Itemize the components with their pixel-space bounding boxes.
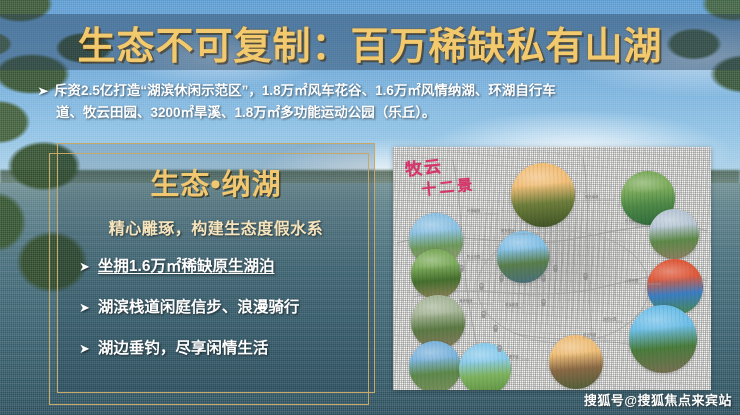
scenic-map-panel: 牧云 十二景 风车花谷WINDMILL FLOWER VALLEY风情纳湖NAH…	[393, 147, 711, 390]
map-label: 旱溪景观DRY CREEK	[505, 303, 522, 312]
photo-texture	[409, 341, 461, 390]
panel-subtitle: 精心雕琢，构建生态度假水系	[73, 215, 359, 239]
map-pin-icon	[541, 299, 546, 306]
map-label-en: LAKESIDE BOARDWALK	[459, 303, 493, 307]
map-label-en: FISHING AREA	[509, 359, 530, 363]
map-pin-icon	[479, 283, 484, 290]
photo-lawn-sky	[459, 343, 511, 390]
photo-riverbank	[409, 341, 461, 390]
map-pin-icon	[493, 325, 498, 332]
panel-bullet-list: ➤ 坐拥1.6万㎡稀缺原生湖泊 ➤ 湖滨栈道闲庭信步、浪漫骑行 ➤ 湖边垂钓，尽…	[73, 257, 359, 359]
map-pin-icon	[541, 275, 546, 282]
photo-texture	[511, 163, 575, 227]
subtitle-line-1: 斥资2.5亿打造“湖滨休闲示范区”，1.8万㎡风车花谷、1.6万㎡风情纳湖、环湖…	[54, 83, 556, 98]
presentation-slide: 生态不可复制：百万稀缺私有山湖 ➤斥资2.5亿打造“湖滨休闲示范区”，1.8万㎡…	[0, 0, 740, 415]
arrow-bullet-icon: ➤	[79, 339, 90, 359]
list-item: ➤ 湖滨栈道闲庭信步、浪漫骑行	[79, 298, 359, 318]
map-pin-icon	[583, 273, 588, 280]
map-label-en: DRY CREEK	[505, 307, 522, 311]
map-label: 风车花谷WINDMILL FLOWER VALLEY	[501, 229, 540, 238]
map-label: 牧云田园MUYUN FARMLAND	[467, 255, 494, 264]
arrow-bullet-icon: ➤	[79, 257, 90, 277]
subtitle-paragraph: ➤斥资2.5亿打造“湖滨休闲示范区”，1.8万㎡风车花谷、1.6万㎡风情纳湖、环…	[38, 80, 706, 124]
map-label-en: CHILDREN PLAYGROUND	[625, 283, 661, 287]
map-label: 湖滨栈道LAKESIDE BOARDWALK	[459, 299, 493, 308]
map-label: 环湖绿道LAKE RING GREENWAY	[467, 209, 500, 218]
photo-texture	[549, 335, 603, 389]
photo-garden-path	[411, 249, 461, 299]
watermark: 搜狐号@搜狐焦点来宾站	[584, 390, 732, 409]
map-label-en: CYCLING TRACK	[583, 337, 607, 341]
page-title: 生态不可复制：百万稀缺私有山湖	[0, 14, 740, 70]
bullet-text: 坐拥1.6万㎡稀缺原生湖泊	[98, 257, 275, 277]
map-label-en: LEQIU PARK	[625, 223, 642, 227]
map-pin-icon	[481, 311, 486, 318]
subtitle-line-2: 道、牧云田园、3200㎡旱溪、1.8万㎡多功能运动公园（乐丘）。	[56, 102, 706, 124]
map-label: 乐丘公园LEQIU PARK	[625, 219, 642, 228]
photo-texture	[411, 249, 461, 299]
bullet-text: 湖滨栈道闲庭信步、浪漫骑行	[98, 298, 300, 318]
map-label-en: NAHU LAKE SCENERY	[585, 199, 616, 203]
map-pin-icon	[553, 265, 558, 272]
photo-boardwalk	[549, 335, 603, 389]
map-label: 运动公园SPORTS PARK	[603, 317, 623, 326]
arrow-bullet-icon: ➤	[37, 80, 49, 102]
left-content-panel: 生态•纳湖 精心雕琢，构建生态度假水系 ➤ 坐拥1.6万㎡稀缺原生湖泊 ➤ 湖滨…	[57, 143, 375, 393]
map-label-en: WINDMILL FLOWER VALLEY	[501, 233, 540, 237]
map-pin-icon	[459, 265, 464, 272]
map-label: 垂钓区FISHING AREA	[509, 355, 530, 364]
list-item: ➤ 坐拥1.6万㎡稀缺原生湖泊	[79, 257, 359, 277]
bullet-text: 湖边垂钓，尽享闲情生活	[98, 339, 269, 359]
map-label-en: LAKE RING GREENWAY	[467, 213, 500, 217]
photo-plaza-trees	[649, 209, 699, 259]
photo-texture	[629, 305, 697, 373]
photo-aerial-estate	[629, 305, 697, 373]
map-label-en: SPORTS PARK	[603, 321, 623, 325]
map-label-en: MUYUN FARMLAND	[467, 259, 494, 263]
map-label: 儿童乐园CHILDREN PLAYGROUND	[625, 279, 661, 288]
photo-texture	[649, 209, 699, 259]
list-item: ➤ 湖边垂钓，尽享闲情生活	[79, 339, 359, 359]
photo-sunset-lake	[511, 163, 575, 227]
map-label: 风情纳湖NAHU LAKE SCENERY	[585, 195, 616, 204]
panel-title: 生态•纳湖	[73, 161, 359, 203]
map-label: 自行车道CYCLING TRACK	[583, 333, 607, 342]
arrow-bullet-icon: ➤	[79, 298, 90, 318]
photo-texture	[459, 343, 511, 390]
map-pin-icon	[497, 345, 502, 352]
map-pin-icon	[499, 275, 504, 282]
